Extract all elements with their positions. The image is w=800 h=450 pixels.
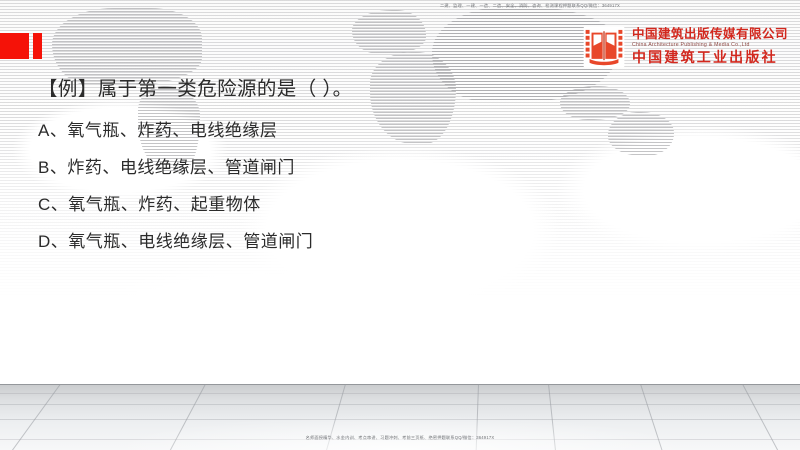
question-content: 【例】属于第一类危险源的是（ ）。 A、氧气瓶、炸药、电线绝缘层 B、炸药、电线… (38, 74, 598, 260)
continent-europe (352, 10, 426, 54)
presentation-slide: 二建、监理、一建、一造、二造、安全、消防、咨询、检测课程押题联系QQ/微信：36… (0, 0, 800, 450)
floor-line-horizontal (0, 404, 800, 405)
publisher-logo: 中国建筑出版传媒有限公司 China Architecture Publishi… (583, 26, 788, 68)
red-accent-block-small (33, 33, 42, 59)
question-title: 【例】属于第一类危险源的是（ ）。 (38, 74, 598, 104)
question-option-a[interactable]: A、氧气瓶、炸药、电线绝缘层 (38, 112, 598, 149)
floor-line-horizontal (0, 393, 800, 394)
logo-company-name-en: China Architecture Publishing & Media Co… (632, 42, 788, 49)
logo-press-name-cn: 中国建筑工业出版社 (632, 50, 788, 67)
book-emblem-icon (583, 26, 625, 68)
question-option-b[interactable]: B、炸药、电线绝缘层、管道闸门 (38, 149, 598, 186)
continent-australia (608, 112, 674, 156)
floor-line-horizontal (0, 419, 800, 420)
red-accent-block-large (0, 33, 29, 59)
floor-line-horizontal (0, 384, 800, 385)
logo-text-block: 中国建筑出版传媒有限公司 China Architecture Publishi… (632, 27, 788, 67)
header-watermark-text: 二建、监理、一建、一造、二造、安全、消防、咨询、检测课程押题联系QQ/微信：36… (130, 2, 800, 9)
question-option-c[interactable]: C、氧气瓶、炸药、起重物体 (38, 186, 598, 223)
logo-company-name-cn: 中国建筑出版传媒有限公司 (632, 27, 788, 41)
question-option-d[interactable]: D、氧气瓶、电线绝缘层、管道闸门 (38, 223, 598, 260)
footer-watermark-text: 名师面授精华、水金内训、考点串讲、习题冲刺、考前三页纸、绝密押题联系QQ/微信：… (0, 434, 800, 441)
